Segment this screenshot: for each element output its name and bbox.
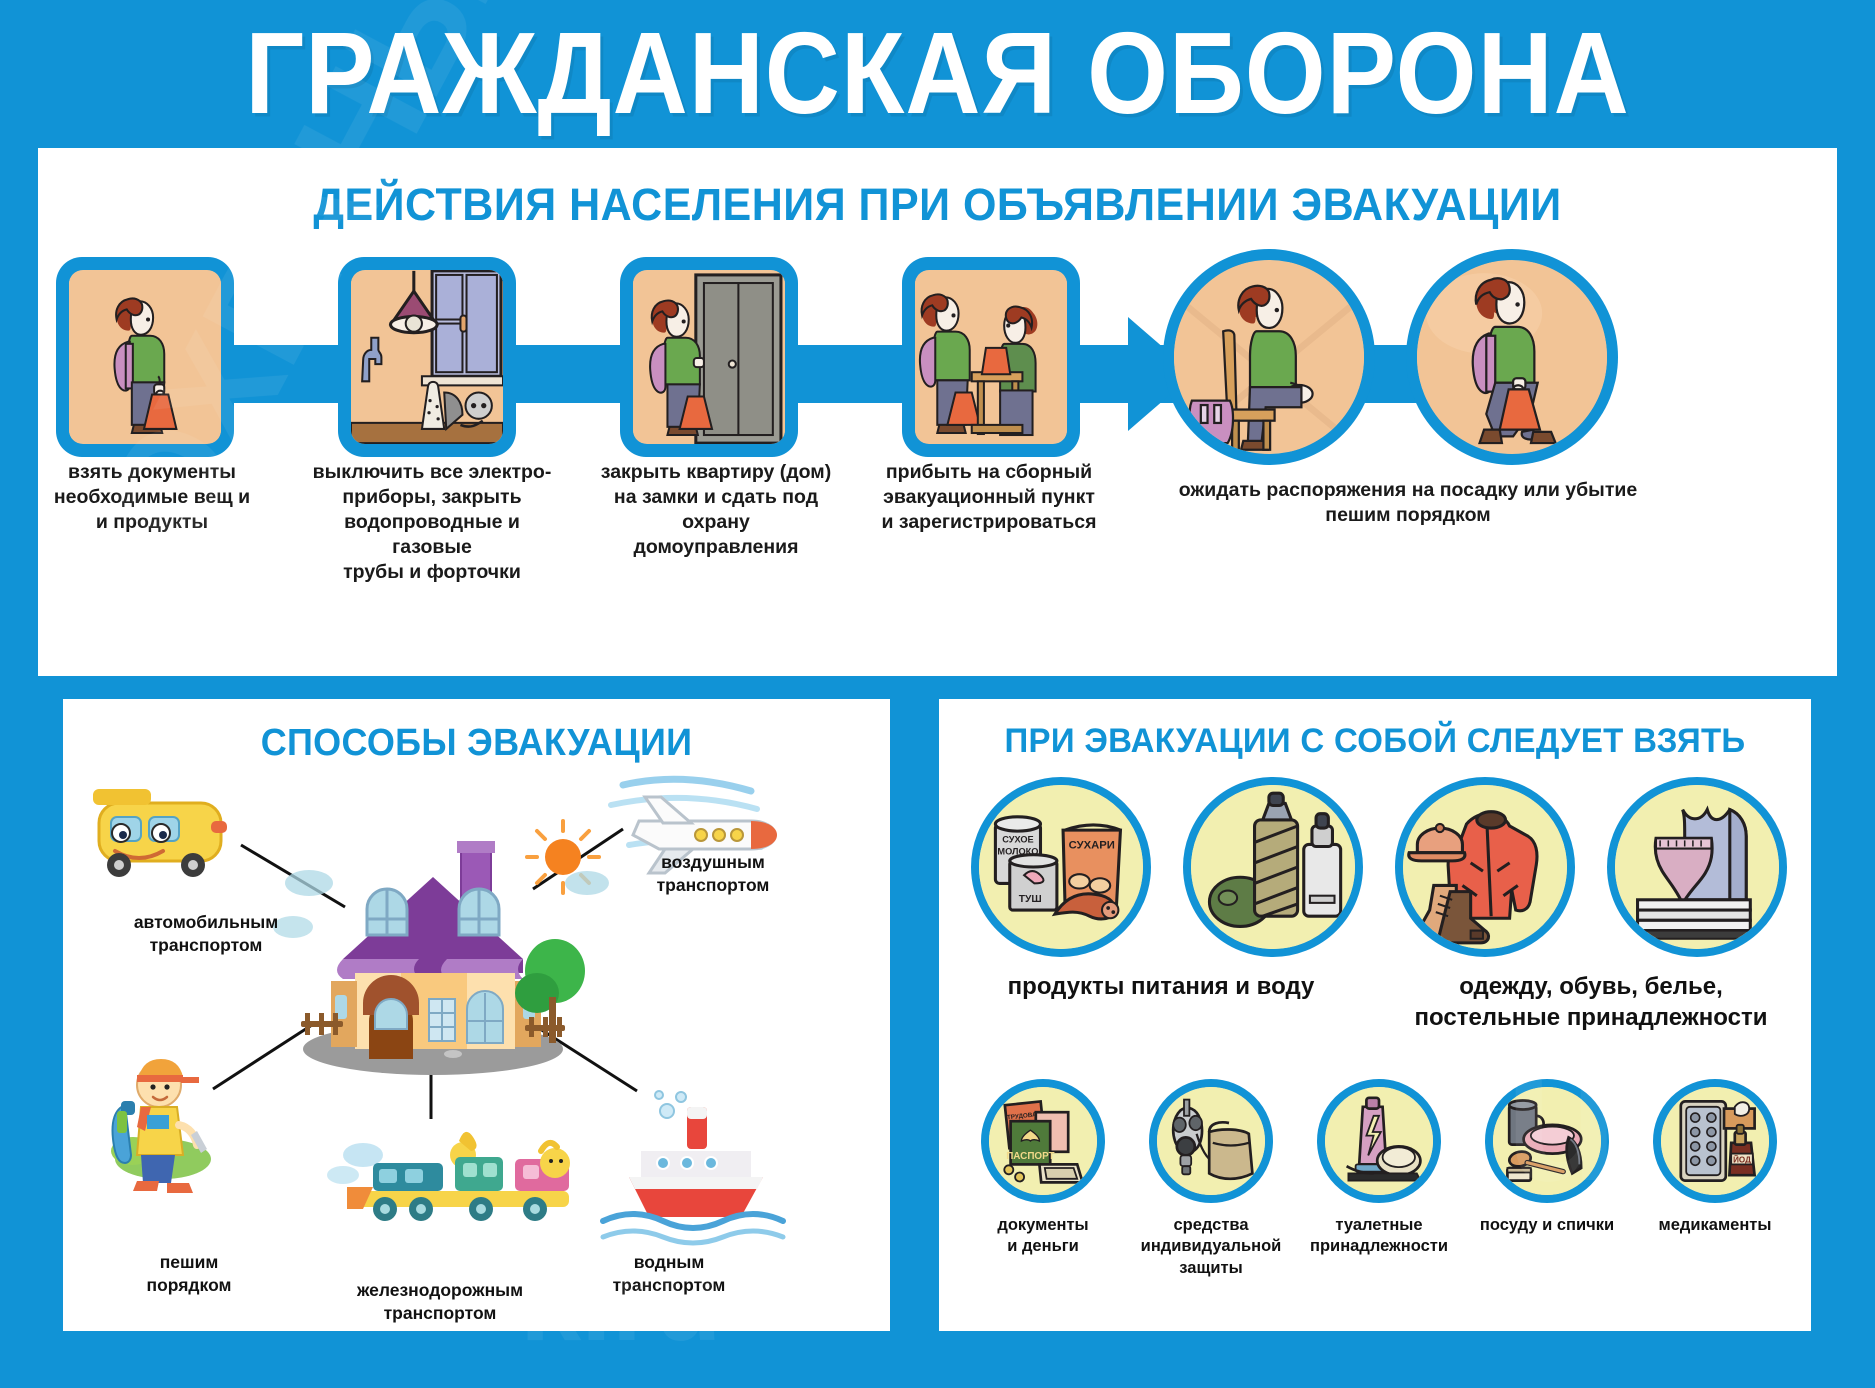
section-heading-actions: ДЕЙСТВИЯ НАСЕЛЕНИЯ ПРИ ОБЪЯВЛЕНИИ ЭВАКУА… [38, 146, 1837, 232]
item-medicine[interactable]: ЙОД [1653, 1079, 1777, 1203]
ship-icon [603, 1091, 783, 1243]
evacuation-flow [38, 257, 1837, 487]
svg-text:ПАСПОРТ: ПАСПОРТ [1006, 1151, 1054, 1162]
item-dishes[interactable] [1485, 1079, 1609, 1203]
toiletries-icon [1325, 1087, 1433, 1195]
step-panel-4[interactable] [902, 257, 1080, 457]
item-label-ppe: средства индивидуальной защиты [1127, 1215, 1295, 1279]
item-water[interactable] [1183, 777, 1363, 957]
bus-icon [79, 789, 239, 891]
svg-text:ЙОД: ЙОД [1733, 1156, 1751, 1165]
item-canned-food[interactable]: СУХОЕ МОЛОКО ТУШ СУХАРИ [971, 777, 1151, 957]
item-label-documents: документы и деньги [959, 1215, 1127, 1258]
section-heading-take: ПРИ ЭВАКУАЦИИ С СОБОЙ СЛЕДУЕТ ВЗЯТЬ [939, 698, 1811, 761]
step-panel-3[interactable] [620, 257, 798, 457]
jacket-cap-boots-icon [1403, 785, 1567, 949]
evacuation-actions-card: ДЕЙСТВИЯ НАСЕЛЕНИЯ ПРИ ОБЪЯВЛЕНИИ ЭВАКУА… [38, 148, 1837, 676]
svg-text:СУХАРИ: СУХАРИ [1069, 840, 1115, 852]
person-locking-door-icon [633, 270, 785, 444]
step-caption-final: ожидать распоряжения на посадку или убыт… [1148, 478, 1668, 528]
item-linen[interactable] [1607, 777, 1787, 957]
item-label-clothing: одежду, обувь, белье, постельные принадл… [1371, 971, 1811, 1033]
step-panel-2[interactable] [338, 257, 516, 457]
take-with-you-card: ПРИ ЭВАКУАЦИИ С СОБОЙ СЛЕДУЕТ ВЗЯТЬ СУХО… [930, 690, 1820, 1340]
step-caption-3: закрыть квартиру (дом) на замки и сдать … [598, 460, 834, 560]
medicine-icon: ЙОД [1661, 1087, 1769, 1195]
item-ppe[interactable] [1149, 1079, 1273, 1203]
method-label-foot: пешим порядком [109, 1251, 269, 1297]
registration-desk-icon [915, 270, 1067, 444]
gas-mask-bag-icon [1157, 1087, 1265, 1195]
item-label-medicine: медикаменты [1631, 1215, 1799, 1236]
method-label-rail: железнодорожным транспортом [325, 1279, 555, 1325]
item-label-dishes: посуду и спички [1463, 1215, 1631, 1236]
evacuation-methods-card: СПОСОБЫ ЭВАКУАЦИИ [54, 690, 899, 1340]
step-panel-5[interactable] [1163, 249, 1375, 465]
documents-money-icon: ТРУДОВАЯ КНИЖКА ПАСПОРТ [989, 1087, 1097, 1195]
person-walking-icon [1417, 260, 1607, 454]
svg-text:ТУШ: ТУШ [1019, 894, 1042, 905]
house-icon [273, 821, 609, 1075]
step-caption-2: выключить все электро- приборы, закрыть … [306, 460, 558, 585]
step-caption-1: взять документы необходимые вещ и и прод… [46, 460, 258, 535]
step-panel-1[interactable] [56, 257, 234, 457]
item-label-toiletries: туалетные принадлежности [1295, 1215, 1463, 1258]
method-label-air: воздушным транспортом [623, 851, 803, 897]
svg-text:СУХОЕ: СУХОЕ [1002, 834, 1034, 844]
item-clothing[interactable] [1395, 777, 1575, 957]
step-panel-6[interactable] [1406, 249, 1618, 465]
train-icon [327, 1132, 570, 1221]
canned-food-icon: СУХОЕ МОЛОКО ТУШ СУХАРИ [979, 785, 1143, 949]
methods-diagram [63, 759, 890, 1319]
water-canteen-thermos-icon [1191, 785, 1355, 949]
poster-title: ГРАЖДАНСКАЯ ОБОРОНА [245, 7, 1630, 140]
item-label-food: продукты питания и воду [951, 971, 1371, 1002]
step-caption-4: прибыть на сборный эвакуационный пункт и… [864, 460, 1114, 535]
person-sitting-waiting-icon [1174, 260, 1364, 454]
method-label-auto: автомобильным транспортом [111, 911, 301, 957]
poster-title-bar: ГРАЖДАНСКАЯ ОБОРОНА [0, 0, 1875, 148]
walker-icon [111, 1059, 211, 1193]
poster-root: ГРАЖДАНСКАЯ ОБОРОНА ДЕЙСТВИЯ НАСЕЛЕНИЯ П… [0, 0, 1875, 1388]
section-heading-methods: СПОСОБЫ ЭВАКУАЦИИ [63, 697, 890, 764]
method-label-water: водным транспортом [579, 1251, 759, 1297]
dishes-matches-icon [1493, 1087, 1601, 1195]
lamp-window-iron-socket-icon [351, 270, 503, 444]
item-documents[interactable]: ТРУДОВАЯ КНИЖКА ПАСПОРТ [981, 1079, 1105, 1203]
person-with-backpack-and-bag-icon [69, 270, 221, 444]
item-toiletries[interactable] [1317, 1079, 1441, 1203]
underwear-linen-icon [1615, 785, 1779, 949]
